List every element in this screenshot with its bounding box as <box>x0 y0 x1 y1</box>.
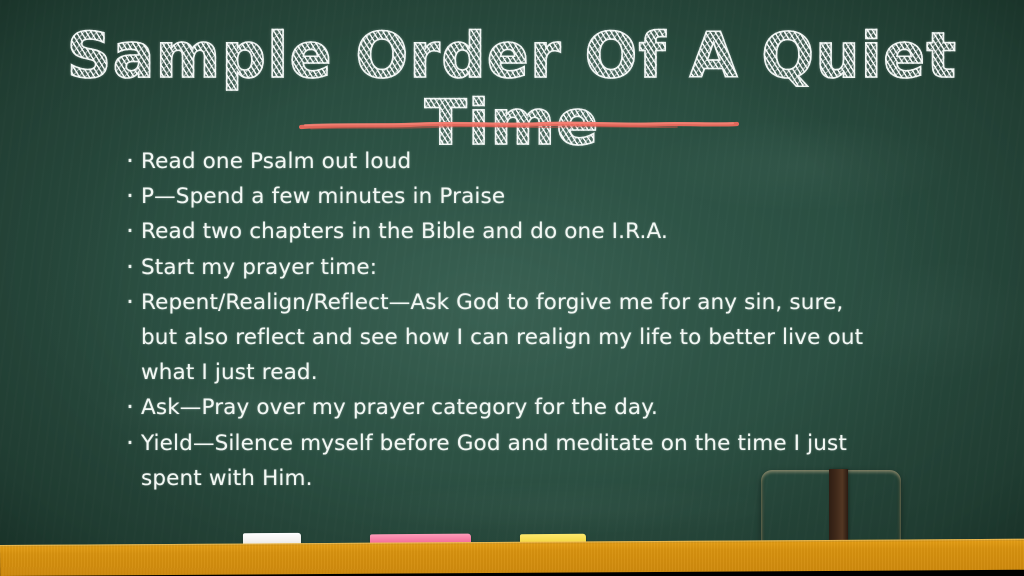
list-item: Ask—Pray over my prayer category for the… <box>124 390 884 425</box>
list-item: Repent/Realign/Reflect—Ask God to forgiv… <box>124 285 884 391</box>
list-item: Read two chapters in the Bible and do on… <box>124 214 884 249</box>
list-item: Read one Psalm out loud <box>124 144 884 179</box>
list-item: P—Spend a few minutes in Praise <box>124 179 884 214</box>
list-item: Start my prayer time: <box>124 250 884 285</box>
chalk-tray-ledge <box>0 539 1024 576</box>
quiet-time-steps-list: Read one Psalm out loud P—Spend a few mi… <box>124 144 884 496</box>
chalkboard-slide: Sample Order Of A Quiet Time Read one Ps… <box>0 0 1024 576</box>
